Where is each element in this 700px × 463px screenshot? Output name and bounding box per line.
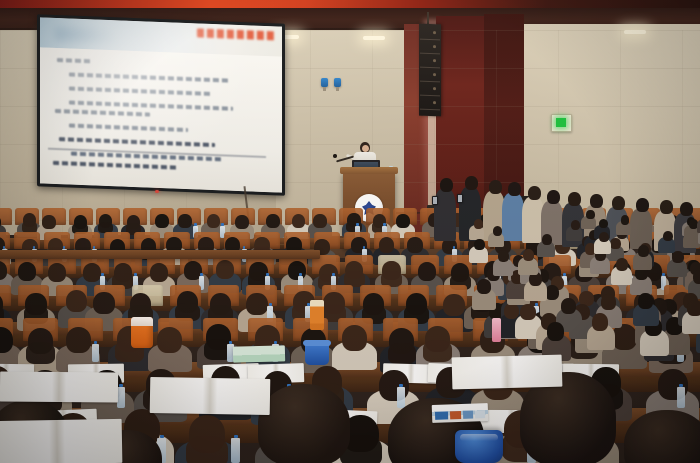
audience-person-head	[672, 251, 683, 263]
held-phone	[432, 196, 438, 205]
audience-person-head	[592, 313, 608, 330]
audience-person-head	[407, 237, 423, 253]
audience-person-head	[545, 285, 559, 300]
wall-fixture-blue	[334, 78, 341, 87]
microphone-head	[333, 154, 337, 158]
audience-person-head	[266, 214, 280, 228]
audience-person-head	[235, 215, 249, 229]
standing-observer-head	[440, 178, 453, 192]
audience-person-head	[523, 249, 534, 261]
audience-person-head	[474, 239, 485, 250]
standing-observer-head	[568, 192, 581, 206]
audience-person-head	[542, 234, 552, 245]
held-phone	[457, 194, 463, 203]
audience-person-head	[418, 262, 436, 281]
audience-person-head	[292, 214, 306, 228]
line-array-speaker	[419, 24, 441, 117]
audience-person-head	[246, 293, 267, 315]
audience-person-head	[216, 260, 234, 279]
standing-observer-head	[528, 186, 541, 200]
audience-person-head	[638, 245, 649, 257]
open-book	[0, 419, 122, 463]
audience-person-hair	[22, 221, 38, 233]
audience-person-head	[396, 214, 410, 228]
audience-person-head	[207, 214, 221, 228]
audience-person-head	[616, 258, 628, 271]
projection-screen	[37, 14, 285, 196]
open-book	[452, 355, 563, 390]
audience-person-head	[498, 250, 509, 262]
screen-indicator-dot	[155, 190, 159, 193]
emergency-exit-sign	[551, 114, 572, 132]
audience-person-head	[313, 214, 327, 228]
audience-person-head	[520, 304, 536, 321]
foreground-person-head	[258, 384, 350, 463]
orange-thermos	[131, 317, 153, 348]
audience-person-head	[610, 238, 620, 249]
audience-person-hair	[26, 342, 55, 364]
standing-observer-head	[547, 190, 560, 204]
audience-person-hair	[186, 436, 228, 463]
audience-person-head	[150, 263, 168, 282]
audience-person-head	[547, 322, 564, 340]
standing-observer-head	[660, 200, 673, 214]
pink-drink-bottle	[492, 318, 501, 342]
water-bottle	[231, 438, 240, 463]
audience-person-head	[638, 293, 653, 309]
standing-observer-head	[680, 202, 693, 216]
audience-person-head	[693, 270, 700, 284]
audience-person-head	[66, 327, 91, 353]
audience-person-head	[561, 298, 576, 314]
audience-person-head	[663, 231, 673, 242]
audience-person-head	[571, 220, 580, 230]
audience-person-head	[621, 215, 630, 224]
blue-cup	[305, 343, 329, 365]
mint-green-book	[233, 345, 285, 362]
audience-person-hair	[423, 340, 452, 362]
audience-person-head	[599, 219, 608, 229]
audience-person-hair	[388, 343, 417, 365]
audience-person-head	[83, 263, 101, 282]
water-bottle	[92, 344, 99, 362]
ceiling-downlight	[624, 30, 646, 34]
standing-observer-head	[465, 176, 478, 190]
audience-person-head	[93, 292, 114, 314]
audience-person-head	[157, 327, 182, 353]
audience-person-head	[42, 215, 56, 229]
audience-person-head	[687, 300, 700, 316]
open-book	[150, 377, 271, 415]
standing-observer-head	[636, 198, 649, 212]
standing-observer-head	[489, 180, 502, 194]
audience-person-head	[586, 210, 594, 219]
screen-glare	[40, 17, 282, 192]
standing-observer-head	[612, 196, 625, 210]
blue-plastic-tub	[455, 430, 503, 463]
audience-person-head	[599, 232, 609, 243]
audience-person-head	[178, 214, 192, 228]
audience-person-head	[474, 219, 483, 229]
audience-person-head	[443, 294, 464, 316]
lectern-top	[340, 167, 398, 174]
standing-observer-head	[508, 182, 521, 196]
desk-row-far-left	[0, 250, 320, 259]
standing-observer-body	[502, 193, 524, 241]
water-bottle	[677, 387, 685, 408]
audience-person-head	[18, 262, 36, 281]
audience-person-head	[612, 324, 637, 350]
auditorium-seat	[0, 208, 12, 224]
open-book	[0, 371, 118, 402]
audience-person-head	[342, 325, 367, 351]
audience-person-head	[477, 279, 491, 294]
audience-person-head	[379, 237, 395, 253]
audience-person-head	[48, 263, 66, 282]
water-bottle	[397, 387, 405, 408]
audience-person-head	[155, 214, 169, 228]
wall-fixture-blue	[321, 78, 328, 87]
lecture-hall-photograph	[0, 0, 700, 463]
standing-observer-head	[590, 194, 603, 208]
ceiling-downlight	[363, 36, 385, 40]
projection-screen-surface	[40, 17, 282, 192]
audience-person-head	[601, 294, 616, 310]
audience-person-head	[66, 290, 87, 312]
audience-person-head	[493, 226, 502, 236]
water-bottle	[117, 387, 125, 408]
juice-carton	[310, 300, 324, 330]
presenter-face	[362, 145, 369, 152]
color-leaflet	[432, 403, 489, 423]
